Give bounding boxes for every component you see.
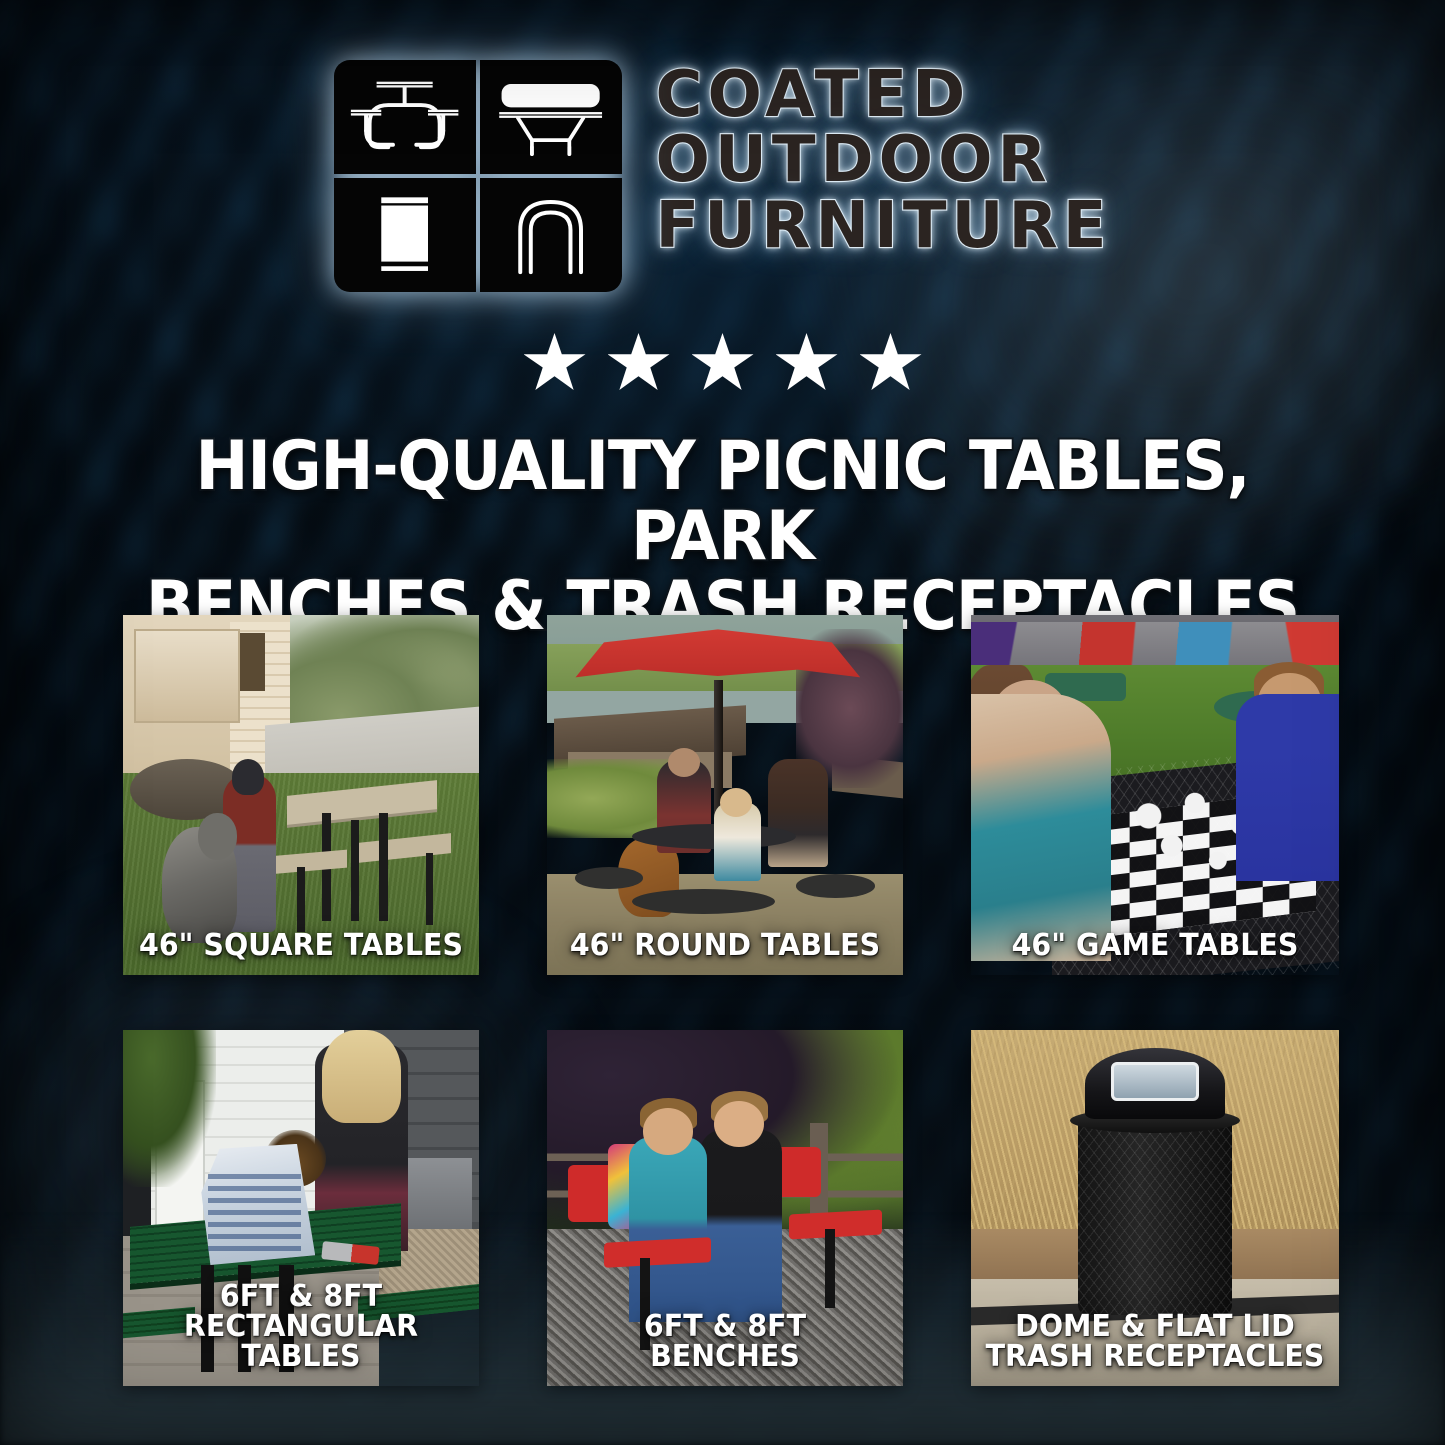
star-rating bbox=[0, 333, 1445, 393]
star-icon bbox=[776, 333, 838, 393]
product-tile-label-line-2: TRASH RECEPTACLES bbox=[984, 1342, 1326, 1372]
poster-content: COATED OUTDOOR FURNITURE HIGH-QUALITY PI… bbox=[0, 0, 1445, 1445]
brand-name: COATED OUTDOOR FURNITURE bbox=[656, 60, 1112, 258]
product-tile-rectangular-tables[interactable]: 6FT & 8FT RECTANGULAR TABLES bbox=[123, 1030, 479, 1386]
product-tile-label-line-1: 46" SQUARE TABLES bbox=[139, 928, 463, 963]
product-photo-square-tables bbox=[123, 615, 479, 975]
star-icon bbox=[860, 333, 922, 393]
headline-line-1: HIGH-QUALITY PICNIC TABLES, PARK bbox=[106, 432, 1338, 572]
picnic-table-icon bbox=[334, 60, 476, 174]
product-tile-label: 46" GAME TABLES bbox=[984, 931, 1326, 961]
brand-header: COATED OUTDOOR FURNITURE bbox=[0, 60, 1445, 292]
product-tile-label: 6FT & 8FT BENCHES bbox=[560, 1312, 891, 1372]
product-photo-round-tables bbox=[547, 615, 903, 975]
product-photo-game-tables bbox=[971, 615, 1339, 975]
product-tile-trash-receptacles[interactable]: DOME & FLAT LID TRASH RECEPTACLES bbox=[971, 1030, 1339, 1386]
arch-bike-rack-icon bbox=[480, 178, 622, 292]
product-tile-grid: 46" SQUARE TABLES bbox=[123, 615, 1327, 1386]
page-headline: HIGH-QUALITY PICNIC TABLES, PARK BENCHES… bbox=[106, 432, 1338, 642]
product-tile-label: 46" ROUND TABLES bbox=[560, 931, 891, 961]
product-tile-label-line-2: RECTANGULAR TABLES bbox=[136, 1312, 467, 1372]
brand-line-1: COATED bbox=[656, 64, 1112, 127]
product-tile-game-tables[interactable]: 46" GAME TABLES bbox=[971, 615, 1339, 975]
trash-receptacle-icon bbox=[334, 178, 476, 292]
brand-line-2: OUTDOOR bbox=[656, 129, 1112, 192]
product-tile-label: 46" SQUARE TABLES bbox=[136, 931, 467, 961]
product-tile-square-tables[interactable]: 46" SQUARE TABLES bbox=[123, 615, 479, 975]
product-tile-label: DOME & FLAT LID TRASH RECEPTACLES bbox=[984, 1312, 1326, 1372]
product-tile-label: 6FT & 8FT RECTANGULAR TABLES bbox=[136, 1282, 467, 1372]
star-icon bbox=[692, 333, 754, 393]
brand-line-3: FURNITURE bbox=[656, 195, 1112, 258]
product-tile-label-line-2: BENCHES bbox=[560, 1342, 891, 1372]
bench-icon bbox=[480, 60, 622, 174]
company-logo bbox=[334, 60, 622, 292]
product-tile-label-line-1: 46" ROUND TABLES bbox=[570, 928, 880, 963]
product-tile-round-tables[interactable]: 46" ROUND TABLES bbox=[547, 615, 903, 975]
product-tile-label-line-1: 46" GAME TABLES bbox=[1012, 928, 1299, 963]
star-icon bbox=[608, 333, 670, 393]
product-tile-benches[interactable]: 6FT & 8FT BENCHES bbox=[547, 1030, 903, 1386]
star-icon bbox=[524, 333, 586, 393]
